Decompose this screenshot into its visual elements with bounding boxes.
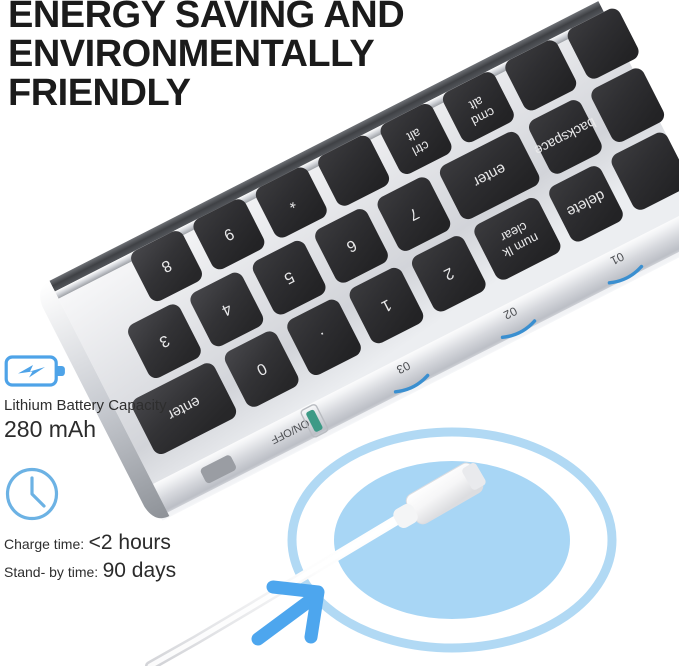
- product-feature-panel: enter 0 . 1 2 num lk: [0, 0, 679, 666]
- battery-value: 280 mAh: [4, 416, 167, 443]
- feature-battery: Lithium Battery Capacity 280 mAh: [4, 352, 167, 443]
- headline-line-1: ENERGY SAVING AND: [8, 0, 488, 35]
- standby-time-value: 90 days: [103, 559, 177, 582]
- standby-time-label: Stand- by time:: [4, 564, 98, 580]
- headline-line-3: FRIENDLY: [8, 74, 488, 113]
- battery-label: Lithium Battery Capacity: [4, 397, 167, 416]
- clock-icon: [4, 466, 60, 522]
- charge-time-value: <2 hours: [89, 531, 171, 554]
- battery-charging-icon: [4, 352, 66, 390]
- charging-halo: [292, 432, 612, 648]
- headline-line-2: ENVIRONMENTALLY: [8, 35, 488, 74]
- charge-time-label: Charge time:: [4, 536, 84, 552]
- standby-time-row: Stand- by time: 90 days: [4, 559, 176, 584]
- charge-time-row: Charge time: <2 hours: [4, 531, 176, 556]
- feature-charge-time: Charge time: <2 hours Stand- by time: 90…: [4, 466, 176, 584]
- headline: ENERGY SAVING AND ENVIRONMENTALLY FRIEND…: [8, 0, 488, 113]
